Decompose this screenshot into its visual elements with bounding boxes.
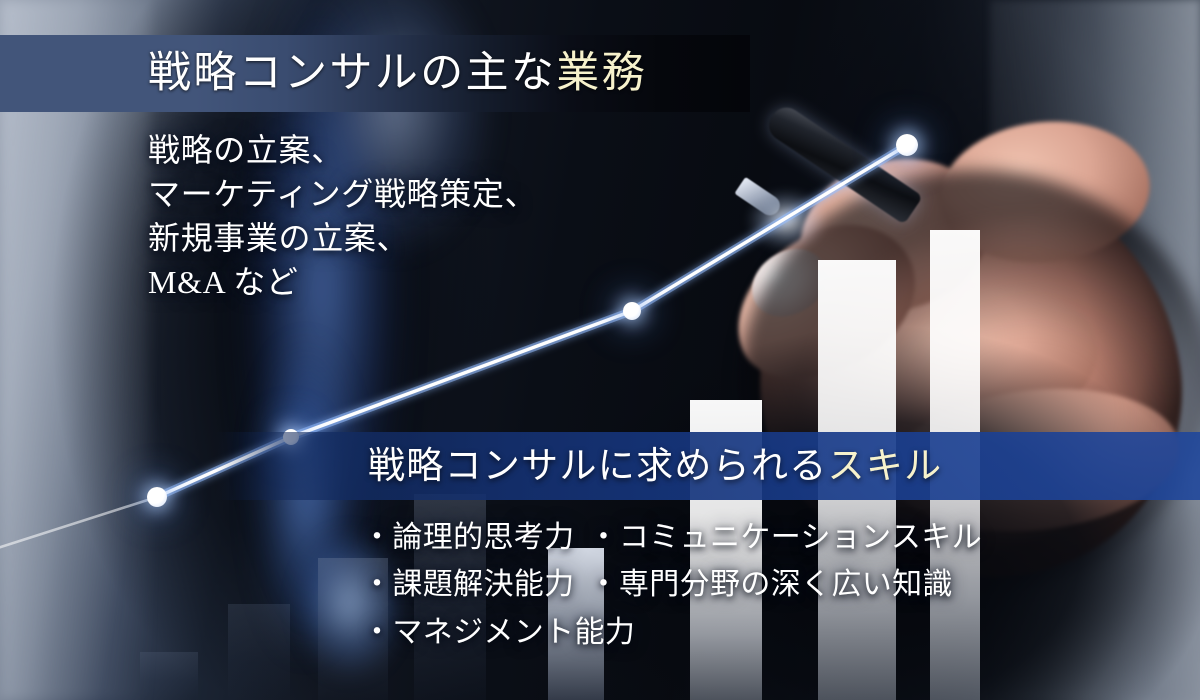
list-item: ・マネジメント能力: [362, 609, 1122, 656]
bullet-left: ・論理的思考力: [362, 521, 575, 554]
lead-line: 戦略の立案、: [148, 128, 688, 172]
bullet-left: ・課題解決能力: [362, 568, 575, 601]
chart-node-3: [623, 302, 641, 320]
page-title-accent: 業務: [556, 50, 647, 97]
lead-line: M&A など: [148, 260, 688, 304]
lead-text-block: 戦略の立案、 マーケティング戦略策定、 新規事業の立案、 M&A など: [148, 128, 688, 305]
chart-node-4: [896, 134, 918, 156]
skill-title-main: 戦略コンサルに求められる: [368, 446, 828, 487]
skill-banner: 戦略コンサルに求められるスキル: [0, 432, 1200, 500]
skill-title-accent: スキル: [828, 446, 943, 487]
bullet-right: ・コミュニケーションスキル: [589, 521, 982, 554]
slide-root: 戦略コンサルの主な業務 戦略の立案、 マーケティング戦略策定、 新規事業の立案、…: [0, 0, 1200, 700]
title-banner: 戦略コンサルの主な業務: [0, 35, 750, 112]
chart-line-tail: [0, 497, 157, 560]
page-title: 戦略コンサルの主な業務: [148, 52, 647, 95]
bullet-left: ・マネジメント能力: [362, 616, 635, 649]
lead-line: マーケティング戦略策定、: [148, 172, 688, 216]
bullet-right: ・専門分野の深く広い知識: [589, 568, 953, 601]
list-item: ・論理的思考力・コミュニケーションスキル: [362, 514, 1122, 561]
skill-banner-title: 戦略コンサルに求められるスキル: [368, 448, 942, 485]
lead-line: 新規事業の立案、: [148, 216, 688, 260]
list-item: ・課題解決能力・専門分野の深く広い知識: [362, 561, 1122, 608]
skill-bullet-list: ・論理的思考力・コミュニケーションスキル ・課題解決能力・専門分野の深く広い知識…: [362, 514, 1122, 656]
page-title-main: 戦略コンサルの主な: [148, 50, 556, 97]
